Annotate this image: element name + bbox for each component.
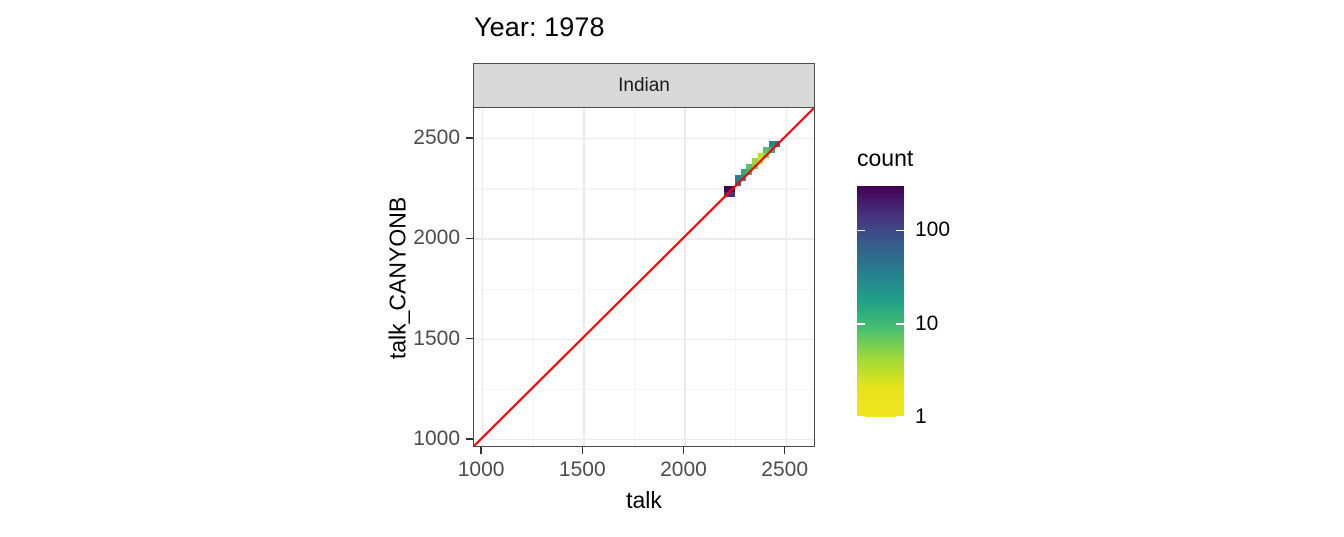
y-axis-tick-mark — [466, 338, 473, 339]
legend-tick-mark — [857, 416, 865, 418]
y-axis-tick-mark — [466, 438, 473, 439]
y-axis-tick-label: 1000 — [348, 427, 460, 451]
x-axis-tick-label: 1000 — [458, 458, 505, 482]
legend-colorbar-gradient — [857, 186, 904, 417]
plot-title: Year: 1978 — [474, 12, 605, 42]
y-axis-tick-label: 2500 — [348, 126, 460, 150]
panel-inner — [474, 108, 814, 446]
x-axis-tick-mark — [480, 447, 481, 454]
facet-strip: Indian — [473, 63, 815, 108]
x-axis-tick-mark — [784, 447, 785, 454]
identity-reference-line — [474, 108, 814, 446]
legend-tick-label: 100 — [915, 218, 950, 242]
legend-tick-mark — [896, 416, 904, 418]
legend-tick-mark — [857, 230, 865, 232]
x-axis-tick-mark — [683, 447, 684, 454]
y-axis-title: talk_CANYONB — [385, 196, 412, 358]
x-axis-tick-label: 2000 — [660, 458, 707, 482]
x-axis-tick-label: 1500 — [559, 458, 606, 482]
plot-panel — [473, 108, 815, 447]
legend-colorbar — [857, 186, 904, 417]
legend-tick-label: 10 — [915, 312, 938, 336]
facet-strip-label: Indian — [474, 75, 814, 97]
chart-figure: Year: 1978 Indian 1000150020002500100015… — [0, 0, 1344, 537]
legend-tick-label: 1 — [915, 405, 927, 429]
x-axis-tick-mark — [582, 447, 583, 454]
legend-tick-mark — [896, 230, 904, 232]
legend-title: count — [857, 145, 913, 172]
legend-tick-mark — [857, 323, 865, 325]
x-axis-tick-label: 2500 — [761, 458, 808, 482]
x-axis-title: talk — [473, 487, 815, 514]
legend-tick-mark — [896, 323, 904, 325]
y-axis-tick-mark — [466, 238, 473, 239]
y-axis-tick-mark — [466, 137, 473, 138]
